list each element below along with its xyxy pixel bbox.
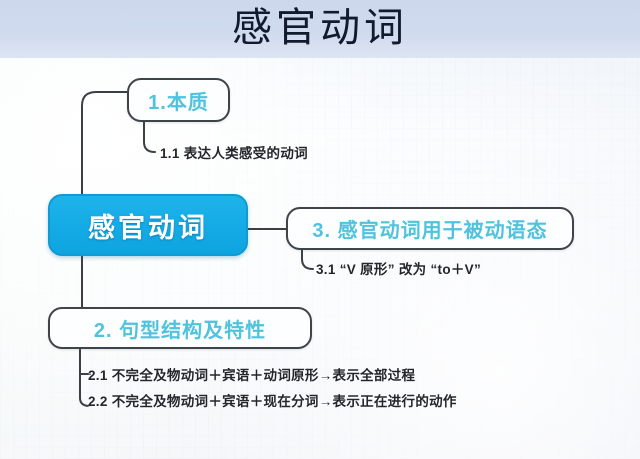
sub-item-2-2: 2.2 不完全及物动词＋宾语＋现在分词→表示正在进行的动作: [88, 390, 457, 410]
mindmap-branch-node-2[interactable]: 2. 句型结构及特性: [48, 307, 312, 349]
slide-canvas: 感官动词 感官动词 1.本质 1.1 表达人类感受的动词: [0, 0, 640, 459]
page-title: 感官动词: [0, 0, 640, 56]
slide-header: 感官动词: [0, 0, 640, 58]
branch-2-label: 2. 句型结构及特性: [94, 314, 266, 343]
branch-1-label: 1.本质: [148, 86, 209, 115]
mindmap-branch-node-3[interactable]: 3. 感官动词用于被动语态: [286, 207, 574, 250]
branch-3-label: 3. 感官动词用于被动语态: [312, 214, 547, 243]
mindmap-root-node[interactable]: 感官动词: [48, 194, 248, 256]
mindmap-branch-node-1[interactable]: 1.本质: [127, 78, 230, 122]
root-node-label: 感官动词: [88, 206, 208, 245]
sub-item-2-1: 2.1 不完全及物动词＋宾语＋动词原形→表示全部过程: [88, 364, 415, 384]
sub-item-1-1: 1.1 表达人类感受的动词: [160, 142, 308, 162]
sub-item-3-1: 3.1 “V 原形” 改为 “to＋V”: [316, 258, 481, 278]
